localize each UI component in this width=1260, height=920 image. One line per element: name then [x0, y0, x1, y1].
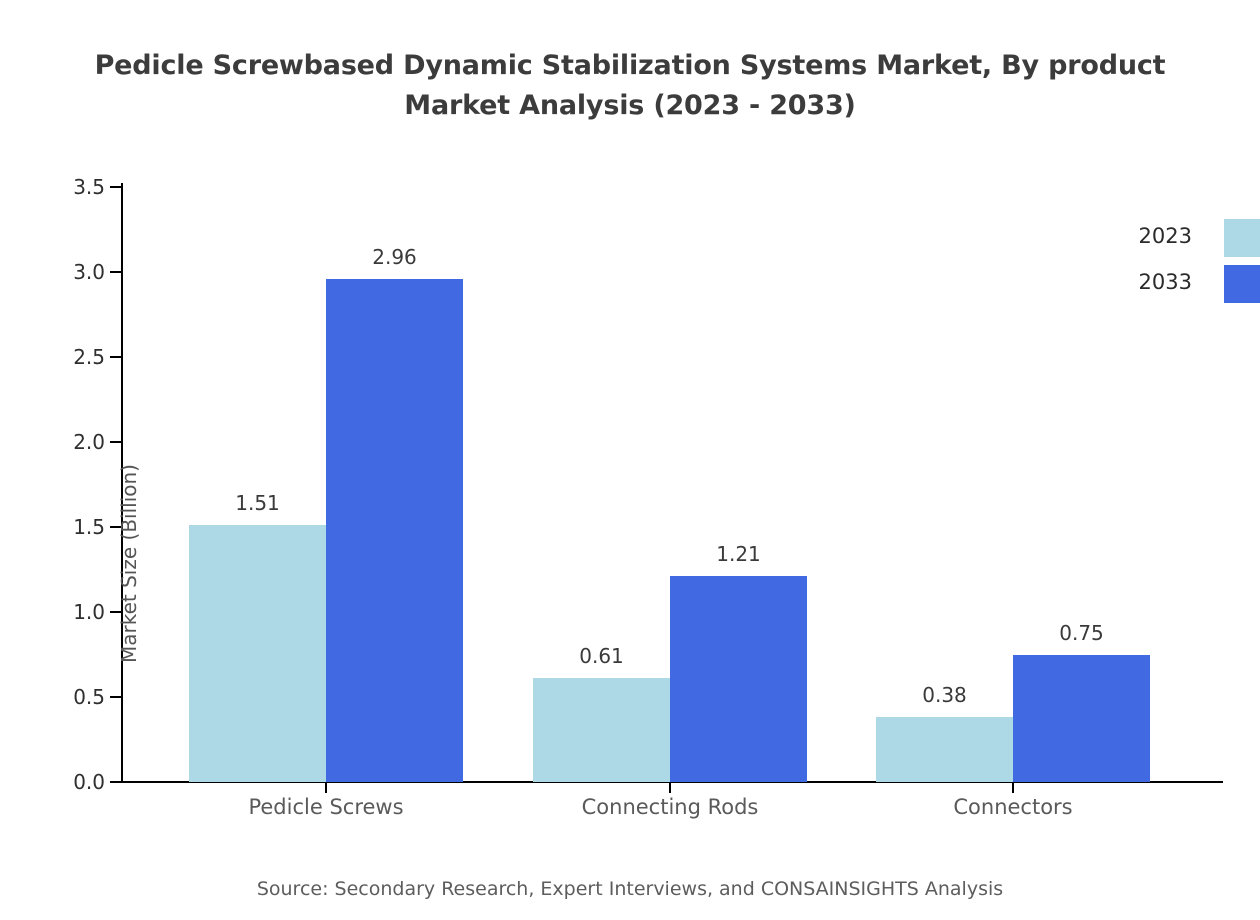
x-tick-label: Pedicle Screws [248, 795, 403, 819]
y-axis-label: Market Size (Billion) [117, 464, 141, 663]
bar-value-label: 2.96 [372, 245, 417, 269]
y-tick-mark [110, 611, 121, 613]
y-tick-label: 2.0 [73, 430, 105, 454]
bar-2023-connectors[interactable] [876, 717, 1013, 782]
bar-value-label: 1.51 [235, 491, 280, 515]
chart-legend: 20232033 [1120, 216, 1260, 308]
bar-2033-pedicle-screws[interactable] [326, 279, 463, 782]
y-tick-mark [110, 271, 121, 273]
x-tick-label: Connectors [953, 795, 1072, 819]
chart-title-line-1: Pedicle Screwbased Dynamic Stabilization… [0, 46, 1260, 86]
bar-2033-connecting-rods[interactable] [670, 576, 807, 782]
chart-title-line-2: Market Analysis (2023 - 2033) [0, 86, 1260, 126]
bar-value-label: 0.75 [1059, 621, 1104, 645]
legend-item-2033[interactable]: 2033 [1120, 262, 1260, 308]
x-tick-mark [1012, 782, 1014, 793]
x-tick-mark [669, 782, 671, 793]
legend-label: 2023 [1139, 216, 1192, 256]
source-note: Source: Secondary Research, Expert Inter… [0, 878, 1260, 900]
y-tick-mark [110, 696, 121, 698]
bar-value-label: 0.38 [922, 683, 967, 707]
y-tick-label: 0.5 [73, 685, 105, 709]
x-tick-label: Connecting Rods [582, 795, 759, 819]
chart-title: Pedicle Screwbased Dynamic Stabilization… [0, 46, 1260, 126]
y-tick-label: 2.5 [73, 345, 105, 369]
y-tick-label: 1.0 [73, 600, 105, 624]
y-tick-mark [110, 356, 121, 358]
y-tick-label: 0.0 [73, 770, 105, 794]
y-tick-label: 3.5 [73, 175, 105, 199]
bar-2033-connectors[interactable] [1013, 655, 1150, 783]
bar-value-label: 0.61 [579, 644, 624, 668]
legend-label: 2033 [1139, 262, 1192, 302]
legend-item-2023[interactable]: 2023 [1120, 216, 1260, 262]
y-tick-label: 3.0 [73, 260, 105, 284]
bar-2023-pedicle-screws[interactable] [189, 525, 326, 782]
x-tick-mark [325, 782, 327, 793]
legend-swatch [1224, 265, 1260, 303]
y-tick-mark [110, 441, 121, 443]
y-tick-mark [110, 781, 121, 783]
y-tick-mark [110, 186, 121, 188]
bar-value-label: 1.21 [716, 542, 761, 566]
legend-swatch [1224, 219, 1260, 257]
y-tick-mark [110, 526, 121, 528]
y-tick-label: 1.5 [73, 515, 105, 539]
plot-area: Market Size (Billion) 0.00.51.01.52.02.5… [121, 183, 1222, 782]
bar-2023-connecting-rods[interactable] [533, 678, 670, 782]
